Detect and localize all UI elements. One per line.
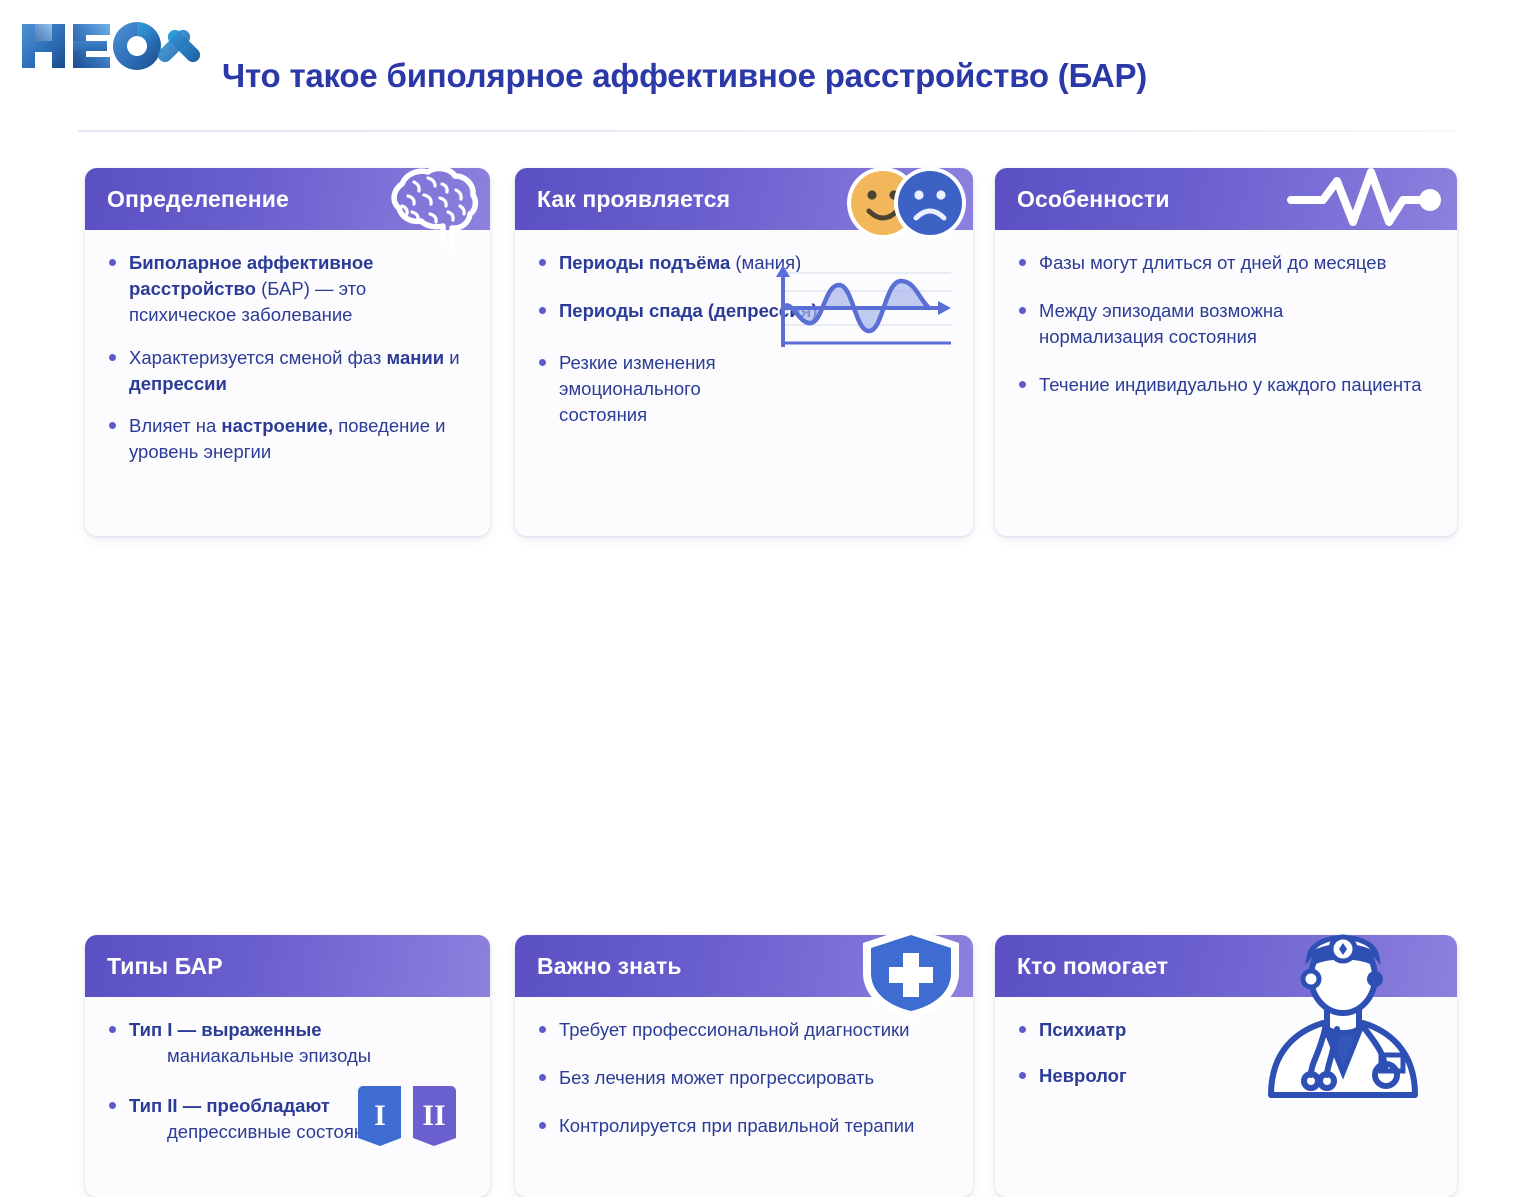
list-item: Влияет на настроение, поведение и уровен… [107,413,468,465]
bullet-text: Течение индивидуально у каждого пациента [1039,374,1422,395]
list-item: Резкие изменения эмоционального состояни… [537,350,777,428]
card-symptoms-body: Периоды подъёма (мания) Периоды спада (д… [515,230,973,443]
card-types-title: Типы БАР [85,953,223,980]
bullet-text: Между эпизодами возможна нормализация со… [1039,300,1283,347]
list-item: Фазы могут длиться от дней до месяцев [1017,250,1435,276]
heartbeat-icon [1285,164,1453,236]
bullet-subtext: депрессивные состояния [129,1119,468,1145]
list-item: Требует профессиональной диагностики [537,1017,951,1043]
bullet-subtext: маниакальные эпизоды [129,1043,468,1069]
features-bullet-list: Фазы могут длиться от дней до месяцев Ме… [1017,250,1435,398]
list-item: Течение индивидуально у каждого пациента [1017,372,1435,398]
list-item: Тип II — преобладают депрессивные состоя… [107,1093,468,1145]
neo-plus-logo[interactable] [18,16,204,76]
bullet-bold-text: мании [387,347,445,368]
bullet-text: Требует профессиональной диагностики [559,1019,909,1040]
bullet-bold-text: Периоды подъёма [559,252,730,273]
bullet-text: Фазы могут длиться от дней до месяцев [1039,252,1386,273]
bullet-text: и [444,347,459,368]
bullet-bold-text: депрессии [129,373,227,394]
definition-bullet-list: Биполарное аффективное расстройство (БАР… [107,250,468,465]
card-who-helps-title: Кто помогает [995,953,1168,980]
list-item: Психиатр [1017,1017,1435,1043]
bullet-bold-text: Невролог [1039,1065,1127,1086]
card-types[interactable]: Типы БАР Тип I — выраженные маниакальные… [85,935,490,1197]
card-definition[interactable]: Определепение Б [85,168,490,536]
card-types-header: Типы БАР [85,935,490,997]
title-divider [78,130,1456,132]
card-symptoms-title: Как проявляется [515,186,730,213]
bullet-bold-text: Тип I — выраженные [129,1019,322,1040]
card-definition-header: Определепение [85,168,490,230]
important-bullet-list: Требует профессиональной диагностики Без… [537,1017,951,1139]
card-symptoms[interactable]: Как проявляется [515,168,973,536]
card-important-title: Важно знать [515,953,682,980]
card-features-body: Фазы могут длиться от дней до месяцев Ме… [995,230,1457,414]
list-item: Контролируется при правильной терапии [537,1113,951,1139]
list-item: Без лечения может прогрессировать [537,1065,951,1091]
card-who-helps-header: Кто помогает [995,935,1457,997]
card-important-header: Важно знать [515,935,973,997]
page-title: Что такое биполярное аффективное расстро… [222,57,1147,95]
who-helps-bullet-list: Психиатр Невролог [1017,1017,1435,1089]
list-item: Между эпизодами возможна нормализация со… [1017,298,1317,350]
list-item: Биполарное аффективное расстройство (БАР… [107,250,468,328]
list-item: Тип I — выраженные маниакальные эпизоды [107,1017,468,1069]
card-important[interactable]: Важно знать Требует профессиональной диа… [515,935,973,1197]
bullet-text: Резкие изменения эмоционального состояни… [559,352,716,425]
card-who-helps[interactable]: Кто помогает [995,935,1457,1197]
cards-row-bottom: Типы БАР Тип I — выраженные маниакальные… [0,536,1536,798]
bullet-text: Контролируется при правильной терапии [559,1115,914,1136]
types-bullet-list: Тип I — выраженные маниакальные эпизоды … [107,1017,468,1145]
card-who-helps-body: Психиатр Невролог [995,997,1457,1105]
card-features[interactable]: Особенности Фазы могут длиться от дней д… [995,168,1457,536]
card-definition-body: Биполарное аффективное расстройство (БАР… [85,230,490,481]
page-header: Что такое биполярное аффективное расстро… [0,0,1536,132]
card-types-body: Тип I — выраженные маниакальные эпизоды … [85,997,490,1161]
card-features-title: Особенности [995,186,1170,213]
bullet-text: Влияет на [129,415,221,436]
bullet-bold-text: Тип II — преобладают [129,1095,330,1116]
card-definition-title: Определепение [85,186,289,213]
cards-grid: Определепение Б [0,168,1536,798]
cards-row-top: Определепение Б [0,168,1536,536]
card-symptoms-header: Как проявляется [515,168,973,230]
bullet-text: Характеризуется сменой фаз [129,347,387,368]
mood-wave-chart [769,257,959,357]
card-features-header: Особенности [995,168,1457,230]
list-item: Характеризуется сменой фаз мании и депре… [107,345,468,397]
bullet-bold-text: настроение, [221,415,333,436]
list-item: Невролог [1017,1063,1435,1089]
bullet-bold-text: Психиатр [1039,1019,1126,1040]
card-important-body: Требует профессиональной диагностики Без… [515,997,973,1155]
bullet-text: Без лечения может прогрессировать [559,1067,874,1088]
